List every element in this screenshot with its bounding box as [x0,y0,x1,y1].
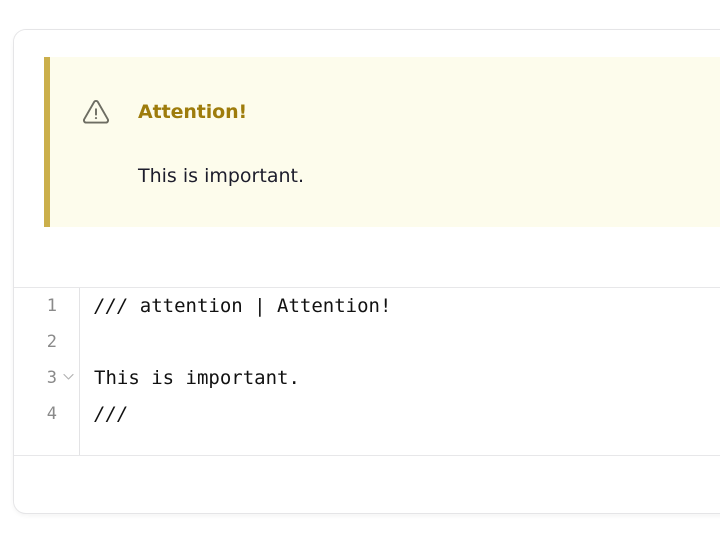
gutter-line: 2 [14,324,79,360]
rendered-preview-pane: Attention! This is important. [14,30,720,288]
code-token-text: attention | Attention! [128,295,391,317]
editor-code-area[interactable]: /// attention | Attention! This is impor… [94,288,720,455]
gutter-line: 4 [14,396,79,432]
admonition-content: Attention! This is important. [50,57,720,227]
line-number: 3 [47,360,57,396]
line-number: 1 [47,288,57,324]
code-line[interactable] [94,324,720,360]
code-token-fence: /// [94,403,128,425]
line-number: 2 [47,324,57,360]
line-number: 4 [47,396,57,432]
code-line[interactable]: This is important. [94,360,720,396]
code-line[interactable]: /// attention | Attention! [94,288,720,324]
card-footer [14,456,720,512]
admonition-body-text: This is important. [138,165,304,187]
admonition-attention: Attention! This is important. [44,57,720,227]
gutter-line: 1 [14,288,79,324]
editor-gutter: 1 2 3 4 [14,288,80,455]
code-token-fence: /// [94,295,128,317]
code-token-text: This is important. [94,367,300,389]
gutter-line: 3 [14,360,79,396]
source-code-editor[interactable]: 1 2 3 4 /// attention | Attention! This … [14,288,720,456]
admonition-title: Attention! [138,101,247,123]
warning-triangle-icon [81,97,111,127]
admonition-header: Attention! [81,97,247,127]
markdown-preview-card: Attention! This is important. 1 2 3 [13,29,720,514]
code-line[interactable]: /// [94,396,720,432]
chevron-down-icon[interactable] [62,360,75,396]
